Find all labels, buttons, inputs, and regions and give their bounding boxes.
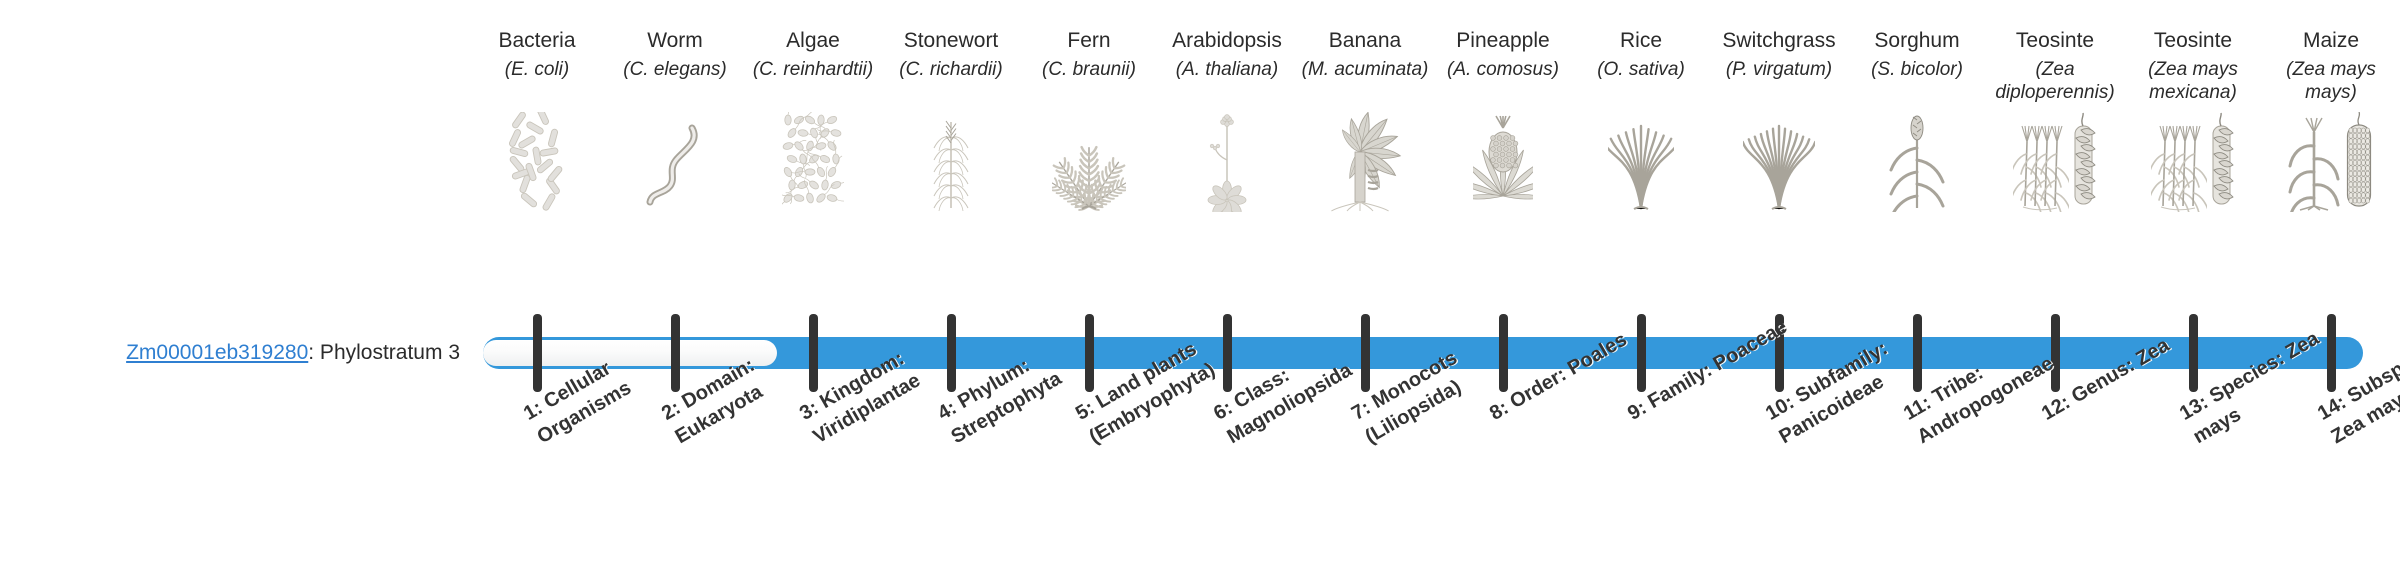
stratum-number: 4: xyxy=(934,397,960,425)
stratum-number: 8: xyxy=(1486,397,1512,425)
stratum-rank: Species: Zea mays xyxy=(2190,327,2323,448)
stratum-number: 1: xyxy=(520,397,546,425)
stratum-rank: Phylum: Streptophyta xyxy=(948,355,1066,449)
stratum-rank: Tribe: Andropogoneae xyxy=(1914,352,2058,448)
stratum-number: 2: xyxy=(658,397,684,425)
stratum-rank: Subfamily: Panicoideae xyxy=(1776,337,1892,448)
stratum-number: 3: xyxy=(796,397,822,425)
stratum-number: 6: xyxy=(1210,397,1236,425)
stratum-rank: Class: Magnoliopsida xyxy=(1224,359,1356,448)
stratum-number: 12: xyxy=(2038,391,2074,425)
stratum-labels: 1: Cellular Organisms2: Domain: Eukaryot… xyxy=(0,0,2400,580)
stratum-rank: Cellular Organisms xyxy=(534,357,635,448)
phylostratum-figure: Zm00001eb319280: Phylostratum 3 Bacteria… xyxy=(0,0,2400,580)
stratum-number: 9: xyxy=(1624,397,1650,425)
stratum-number: 7: xyxy=(1348,397,1374,425)
stratum-number: 5: xyxy=(1072,397,1098,425)
